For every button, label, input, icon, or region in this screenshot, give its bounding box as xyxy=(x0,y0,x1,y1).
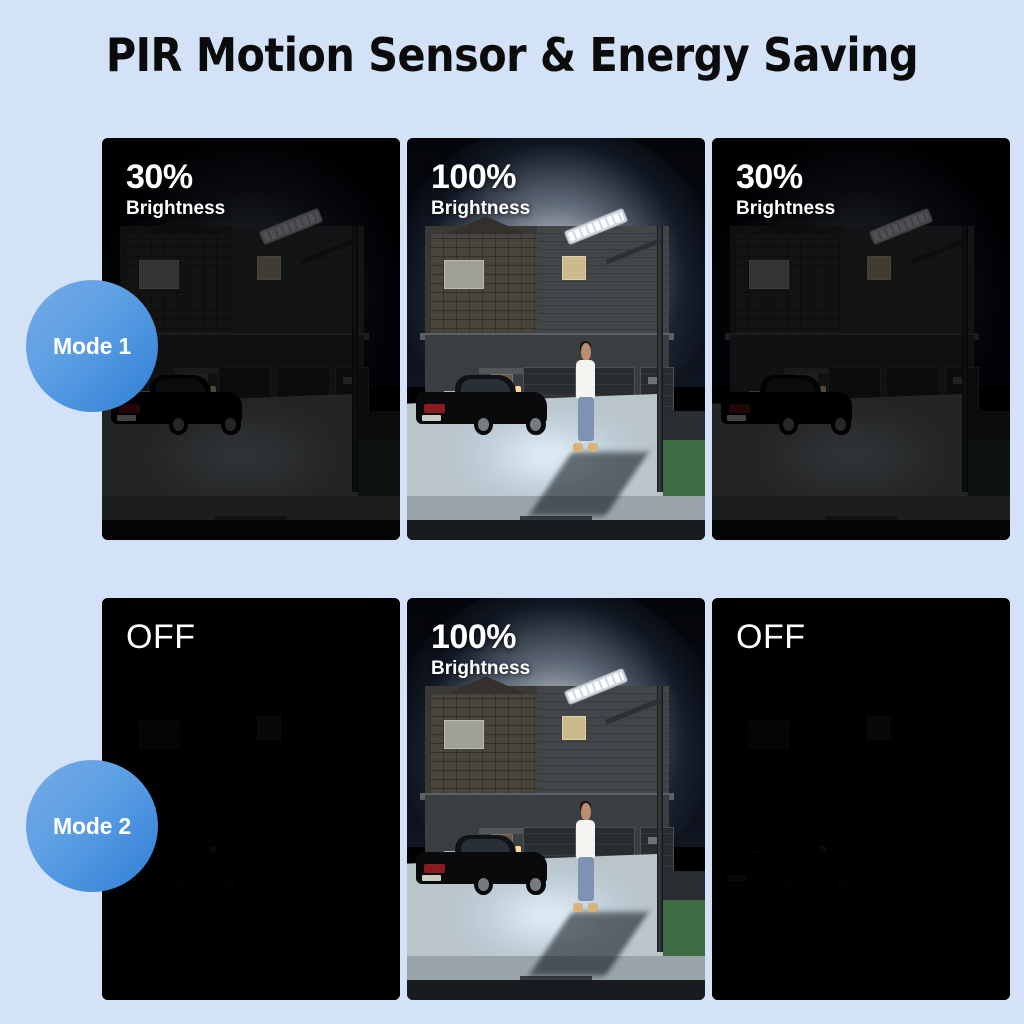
parked-car xyxy=(416,843,547,895)
car-wheel-rear xyxy=(779,414,799,436)
car-taillight xyxy=(729,404,750,412)
parked-car xyxy=(416,383,547,435)
car-taillight xyxy=(729,864,750,872)
car-wheel-rear xyxy=(169,414,189,436)
house-upper-storey xyxy=(120,226,364,338)
wall-plate xyxy=(648,837,657,844)
mode-badge-2[interactable]: Mode 2 xyxy=(26,760,158,892)
car-license-plate xyxy=(422,875,440,881)
window-upper-right xyxy=(257,256,281,281)
street xyxy=(102,520,400,540)
house-upper-storey xyxy=(730,686,974,798)
car-license-plate xyxy=(727,415,745,421)
window-upper-left xyxy=(749,260,788,289)
wall-plate xyxy=(343,377,352,384)
car-taillight xyxy=(424,864,445,872)
window-upper-left xyxy=(749,720,788,749)
panel-caption: 100% Brightness xyxy=(431,620,530,680)
person-jeans xyxy=(578,397,594,440)
panel-grid: 30% Brightness xyxy=(0,0,1024,1024)
window-upper-right xyxy=(257,716,281,741)
brightness-value: 30% xyxy=(126,160,225,194)
brightness-value: 100% xyxy=(431,160,530,194)
window-upper-right xyxy=(867,716,891,741)
car-license-plate xyxy=(422,415,440,421)
window-upper-right xyxy=(562,256,586,281)
house-upper-storey xyxy=(730,226,974,338)
person-head xyxy=(581,343,591,361)
mode-badge-1[interactable]: Mode 1 xyxy=(26,280,158,412)
person-shoe-right xyxy=(588,903,598,912)
brightness-label: Brightness xyxy=(126,199,225,220)
lamp-pole xyxy=(657,226,663,491)
car-wheel-front xyxy=(526,414,546,436)
car-license-plate xyxy=(117,415,135,421)
wall-plate xyxy=(953,377,962,384)
person-head xyxy=(581,803,591,821)
person-shirt xyxy=(576,820,595,859)
car-wheel-front xyxy=(831,874,851,896)
lamp-pole xyxy=(962,226,968,491)
car-wheel-front xyxy=(221,414,241,436)
lamp-pole xyxy=(962,686,968,951)
panel-caption: OFF xyxy=(126,620,195,659)
window-upper-left xyxy=(444,720,483,749)
panel-caption: 30% Brightness xyxy=(736,160,835,220)
mode-1-row: 30% Brightness xyxy=(102,138,1010,540)
mode-badge-1-label: Mode 1 xyxy=(53,333,131,360)
panel-mode1-after[interactable]: 30% Brightness xyxy=(712,138,1010,540)
house-upper-storey xyxy=(425,226,669,338)
brightness-value: OFF xyxy=(126,620,195,654)
lamp-pole xyxy=(352,226,358,491)
street xyxy=(407,520,705,540)
walking-person xyxy=(571,803,601,912)
car-license-plate xyxy=(727,875,745,881)
window-upper-left xyxy=(139,260,178,289)
car-wheel-front xyxy=(526,874,546,896)
lamp-pole xyxy=(352,686,358,951)
window-upper-left xyxy=(444,260,483,289)
house-upper-storey xyxy=(120,686,364,798)
person-jeans xyxy=(578,857,594,900)
window-upper-left xyxy=(139,720,178,749)
brightness-label: Brightness xyxy=(431,199,530,220)
parked-car xyxy=(721,383,852,435)
panel-mode2-triggered[interactable]: 100% Brightness xyxy=(407,598,705,1000)
parked-car xyxy=(721,843,852,895)
street xyxy=(102,980,400,1000)
brightness-value: 100% xyxy=(431,620,530,654)
car-wheel-rear xyxy=(474,874,494,896)
window-upper-right xyxy=(562,716,586,741)
street xyxy=(407,980,705,1000)
brightness-value: 30% xyxy=(736,160,835,194)
mode-2-row: OFF xyxy=(102,598,1010,1000)
brightness-label: Brightness xyxy=(431,659,530,680)
person-shoe-left xyxy=(573,443,583,452)
mode-badge-2-label: Mode 2 xyxy=(53,813,131,840)
panel-caption: 100% Brightness xyxy=(431,160,530,220)
brightness-label: Brightness xyxy=(736,199,835,220)
panel-caption: OFF xyxy=(736,620,805,659)
car-wheel-rear xyxy=(169,874,189,896)
wall-plate xyxy=(343,837,352,844)
panel-caption: 30% Brightness xyxy=(126,160,225,220)
walking-person xyxy=(571,343,601,452)
car-taillight xyxy=(119,404,140,412)
car-wheel-rear xyxy=(779,874,799,896)
street xyxy=(712,520,1010,540)
person-shoe-left xyxy=(573,903,583,912)
wall-plate xyxy=(953,837,962,844)
car-wheel-front xyxy=(221,874,241,896)
wall-plate xyxy=(648,377,657,384)
street xyxy=(712,980,1010,1000)
car-wheel-front xyxy=(831,414,851,436)
person-shirt xyxy=(576,360,595,399)
window-upper-right xyxy=(867,256,891,281)
car-taillight xyxy=(424,404,445,412)
panel-mode1-triggered[interactable]: 100% Brightness xyxy=(407,138,705,540)
car-wheel-rear xyxy=(474,414,494,436)
brightness-value: OFF xyxy=(736,620,805,654)
house-upper-storey xyxy=(425,686,669,798)
person-shoe-right xyxy=(588,443,598,452)
panel-mode2-after[interactable]: OFF xyxy=(712,598,1010,1000)
lamp-pole xyxy=(657,686,663,951)
